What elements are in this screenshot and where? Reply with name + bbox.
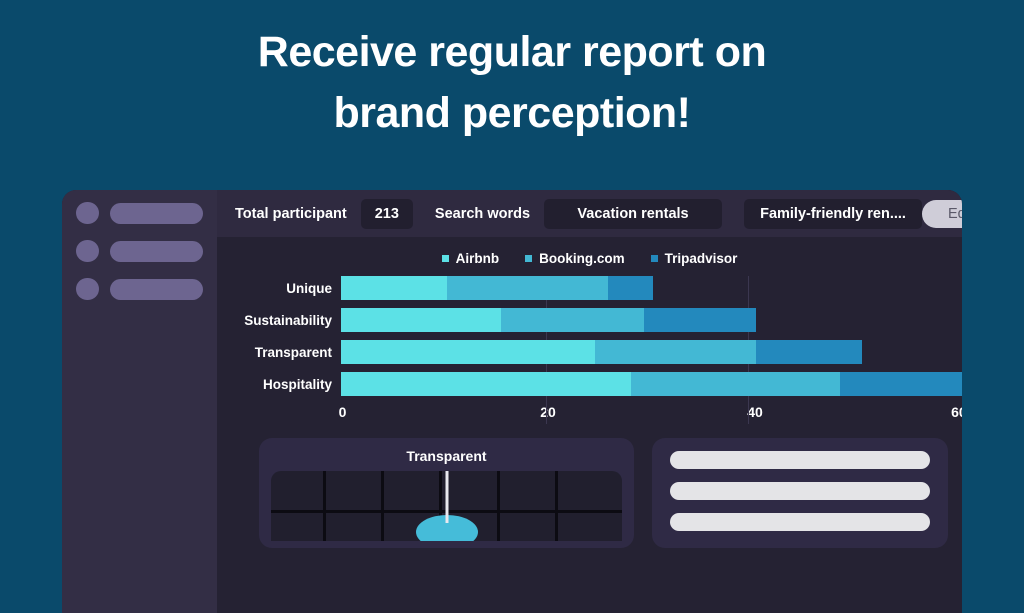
legend-item-tripadvisor[interactable]: Tripadvisor [651, 251, 738, 266]
panel-title: Transparent [259, 448, 634, 464]
bar-stack-1 [341, 308, 962, 332]
sidebar-avatar-placeholder-icon [76, 278, 99, 300]
main-content: Total participant 213 Search words Vacat… [217, 190, 962, 613]
headline-line-1: Receive regular report on [0, 22, 1024, 83]
bar-segment-booking-com [595, 340, 756, 364]
sidebar-item-3[interactable] [62, 278, 217, 300]
bar-category-label: Sustainability [223, 313, 341, 328]
sidebar [62, 190, 217, 613]
x-axis-tick-label: 0 [339, 404, 347, 420]
list-item[interactable] [670, 451, 930, 469]
page-headline: Receive regular report on brand percepti… [0, 22, 1024, 144]
total-participant-label: Total participant [235, 206, 347, 222]
bar-stack-3 [341, 372, 962, 396]
transparent-gauge-panel: Transparent [259, 438, 634, 548]
x-axis-tick-label: 60 [951, 404, 962, 420]
app-window-card: Total participant 213 Search words Vacat… [62, 190, 962, 613]
stacked-bar-chart: Unique Sustainability Transparent Hospit… [217, 276, 962, 424]
toolbar: Total participant 213 Search words Vacat… [217, 190, 962, 237]
chart-x-axis: 0204060 [223, 404, 962, 424]
bar-segment-booking-com [447, 276, 608, 300]
search-word-chip-1[interactable]: Vacation rentals [544, 199, 722, 229]
sidebar-label-placeholder [110, 279, 203, 300]
bar-category-label: Unique [223, 281, 341, 296]
legend-item-airbnb[interactable]: Airbnb [442, 251, 500, 266]
gauge-grid [271, 471, 622, 541]
bar-track [341, 276, 962, 300]
search-word-chip-2[interactable]: Family-friendly ren.... [744, 199, 922, 229]
bar-segment-tripadvisor [840, 372, 962, 396]
bar-segment-airbnb [341, 276, 447, 300]
legend-item-booking[interactable]: Booking.com [525, 251, 625, 266]
bottom-panels: Transparent [217, 424, 962, 548]
list-item[interactable] [670, 482, 930, 500]
bar-segment-booking-com [501, 308, 644, 332]
bar-segment-booking-com [631, 372, 840, 396]
bar-stack-0 [341, 276, 962, 300]
chart-legend: Airbnb Booking.com Tripadvisor [217, 251, 962, 266]
bar-row[interactable]: Sustainability [223, 308, 962, 332]
bar-segment-tripadvisor [644, 308, 756, 332]
list-skeleton-panel [652, 438, 948, 548]
legend-swatch-icon [525, 255, 532, 262]
bar-segment-tripadvisor [756, 340, 862, 364]
search-words-label: Search words [435, 206, 530, 222]
bar-row[interactable]: Transparent [223, 340, 962, 364]
total-participant-value[interactable]: 213 [361, 199, 413, 229]
bar-category-label: Hospitality [223, 377, 341, 392]
bar-track [341, 340, 962, 364]
legend-label: Tripadvisor [665, 251, 738, 266]
bar-row[interactable]: Unique [223, 276, 962, 300]
legend-label: Airbnb [456, 251, 500, 266]
sidebar-avatar-placeholder-icon [76, 202, 99, 224]
bar-segment-airbnb [341, 308, 501, 332]
headline-line-2: brand perception! [0, 83, 1024, 144]
sidebar-label-placeholder [110, 203, 203, 224]
list-item[interactable] [670, 513, 930, 531]
bar-row[interactable]: Hospitality [223, 372, 962, 396]
legend-swatch-icon [651, 255, 658, 262]
x-axis-tick-label: 20 [540, 404, 556, 420]
bar-segment-airbnb [341, 372, 631, 396]
sidebar-item-2[interactable] [62, 240, 217, 262]
bar-segment-tripadvisor [608, 276, 653, 300]
gauge-needle-icon [445, 471, 448, 523]
sidebar-label-placeholder [110, 241, 203, 262]
sidebar-item-1[interactable] [62, 202, 217, 224]
bar-category-label: Transparent [223, 345, 341, 360]
x-axis-ticks: 0204060 [341, 404, 962, 424]
legend-swatch-icon [442, 255, 449, 262]
bar-stack-2 [341, 340, 962, 364]
sidebar-avatar-placeholder-icon [76, 240, 99, 262]
bar-segment-airbnb [341, 340, 595, 364]
edit-button[interactable]: Edit [922, 200, 962, 228]
bar-track [341, 308, 962, 332]
legend-label: Booking.com [539, 251, 625, 266]
x-axis-tick-label: 40 [747, 404, 763, 420]
bar-track [341, 372, 962, 396]
